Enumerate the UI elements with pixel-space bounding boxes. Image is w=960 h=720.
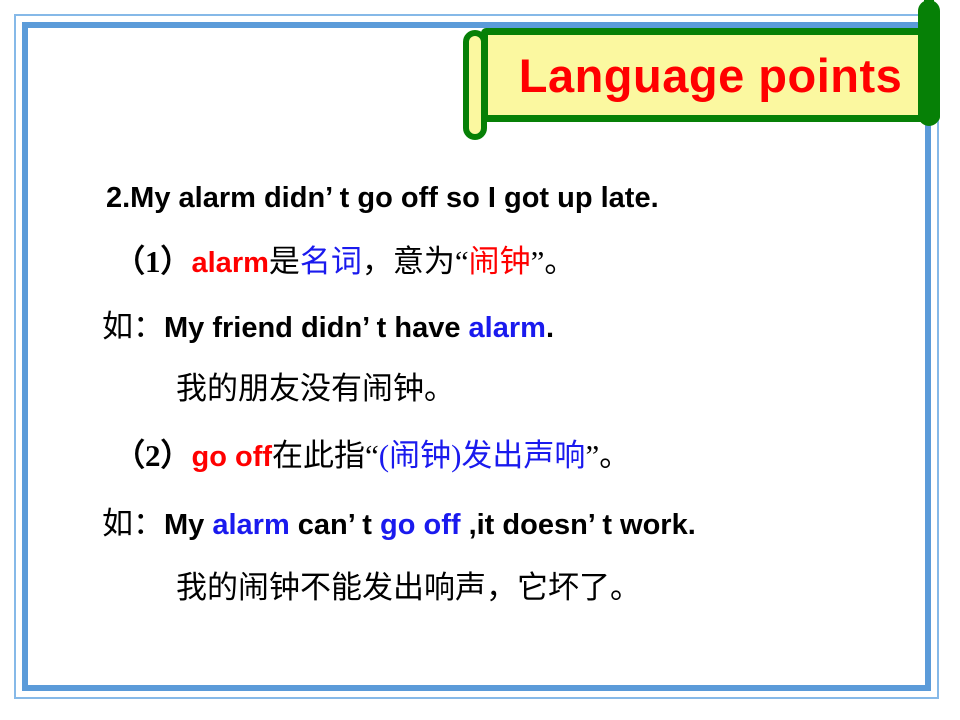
example-2-english: 如：My alarm can’ t go off ,it doesn’ t wo… bbox=[102, 508, 696, 540]
example-2-text-1: My bbox=[164, 509, 212, 541]
explanation-1-text-2: ，意为 bbox=[362, 244, 455, 279]
explanation-1: （1）alarm是名词，意为“闹钟”。 bbox=[114, 246, 575, 278]
example-2-term-1: alarm bbox=[212, 509, 289, 541]
explanation-2-gloss: (闹钟)发出声响 bbox=[379, 438, 586, 473]
explanation-1-quote-close: ” bbox=[531, 244, 545, 279]
example-2-text-3: ,it doesn’ t work. bbox=[461, 509, 696, 541]
explanation-2-quote-open: “ bbox=[365, 438, 379, 473]
explanation-1-text-1: 是 bbox=[269, 244, 300, 279]
explanation-2: （2）go off在此指“(闹钟)发出声响”。 bbox=[114, 440, 630, 472]
title-scroll-banner: Language points bbox=[463, 28, 940, 122]
example-2-text-2: can’ t bbox=[290, 509, 380, 541]
example-1-translation-text: 我的朋友没有闹钟。 bbox=[176, 371, 455, 406]
explanation-2-quote-close: ” bbox=[585, 438, 599, 473]
explanation-1-quote-open: “ bbox=[455, 244, 469, 279]
example-1-text-1: My friend didn’ t have bbox=[164, 312, 469, 344]
example-1-lead-in: 如： bbox=[102, 309, 164, 344]
explanation-2-number: （2） bbox=[114, 438, 192, 473]
explanation-1-partofspeech: 名词 bbox=[300, 244, 362, 279]
example-1-translation: 我的朋友没有闹钟。 bbox=[176, 373, 455, 404]
explanation-1-number: （1） bbox=[114, 244, 192, 279]
explanation-2-text-1: 在此指 bbox=[272, 438, 365, 473]
example-1-english: 如：My friend didn’ t have alarm. bbox=[102, 311, 554, 343]
example-2-translation: 我的闹钟不能发出响声，它坏了。 bbox=[176, 572, 641, 603]
explanation-1-period: 。 bbox=[544, 244, 575, 279]
example-2-lead-in: 如： bbox=[102, 506, 164, 541]
explanation-2-term: go off bbox=[192, 441, 273, 473]
page-title: Language points bbox=[481, 28, 940, 122]
example-2-translation-text: 我的闹钟不能发出响声，它坏了。 bbox=[176, 570, 641, 605]
point-2-heading-text: 2.My alarm didn’ t go off so I got up la… bbox=[106, 182, 659, 214]
point-2-heading: 2.My alarm didn’ t go off so I got up la… bbox=[106, 184, 659, 213]
explanation-1-gloss: 闹钟 bbox=[469, 244, 531, 279]
slide-canvas: Language points 2.My alarm didn’ t go of… bbox=[0, 0, 960, 720]
explanation-1-term: alarm bbox=[192, 247, 269, 279]
explanation-2-period: 。 bbox=[599, 438, 630, 473]
example-1-period: . bbox=[546, 312, 554, 344]
example-1-term: alarm bbox=[469, 312, 546, 344]
example-2-term-2: go off bbox=[380, 509, 461, 541]
